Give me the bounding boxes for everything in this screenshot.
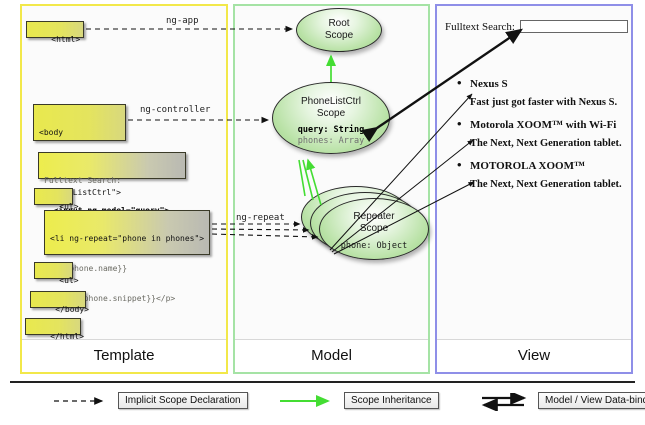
legend-label-implicit-scope-declaration: Implicit Scope Declaration bbox=[118, 392, 248, 409]
ul-open-tag-box: <ul> bbox=[34, 188, 73, 205]
legend-item-implicit-scope-declaration: Implicit Scope Declaration bbox=[52, 392, 248, 409]
phonelistctrl-scope-line2: Scope bbox=[273, 108, 389, 120]
green-arrow-icon bbox=[278, 393, 338, 409]
li-ng-repeat-snippet-box: <li ng-repeat="phone in phones"> {{phone… bbox=[44, 210, 210, 255]
phonelistctrl-scope-line1: PhoneListCtrl bbox=[273, 96, 389, 108]
body-close-tag-text: </body> bbox=[55, 305, 89, 314]
double-arrow-icon bbox=[480, 393, 532, 409]
ul-close-tag-text: <ul> bbox=[59, 276, 78, 285]
view-search-row: Fulltext Search: bbox=[445, 20, 628, 33]
legend-label-scope-inheritance: Scope Inheritance bbox=[344, 392, 439, 409]
repeater-scope-line2: Scope bbox=[320, 223, 428, 235]
view-search-input[interactable] bbox=[520, 20, 628, 33]
list-item[interactable]: Motorola XOOM™ with Wi-Fi The Next, Next… bbox=[453, 117, 631, 152]
body-open-tag-box: <body ng-controller= "PhoneListCtrl"> bbox=[33, 104, 126, 141]
legend: Implicit Scope Declaration Scope Inherit… bbox=[10, 381, 635, 425]
legend-item-scope-inheritance: Scope Inheritance bbox=[278, 392, 439, 409]
li-ng-repeat-line2: {{phone.name}} bbox=[50, 264, 204, 274]
phone-snippet: The Next, Next Generation tablet. bbox=[453, 136, 631, 152]
phonelistctrl-scope-ellipse: PhoneListCtrl Scope query: String phones… bbox=[272, 82, 390, 154]
phone-name: MOTOROLA XOOM™ bbox=[453, 158, 631, 174]
body-open-tag-line1: <body bbox=[39, 128, 120, 138]
angularjs-architecture-diagram: Template <html> <body ng-controller= "Ph… bbox=[0, 0, 645, 425]
root-scope-ellipse: Root Scope bbox=[296, 8, 382, 52]
html-close-tag-text: </html> bbox=[50, 332, 84, 341]
phone-name: Motorola XOOM™ with Wi-Fi bbox=[453, 117, 631, 133]
repeater-scope-ellipse-front: Repeater Scope phone: Object bbox=[319, 198, 429, 260]
repeater-scope-field-phone: phone: Object bbox=[320, 241, 428, 252]
view-search-label: Fulltext Search: bbox=[445, 21, 515, 33]
view-phone-list: Nexus S Fast just got faster with Nexus … bbox=[453, 76, 631, 199]
model-column-label: Model bbox=[235, 339, 428, 372]
phonelistctrl-scope-field-query: query: String bbox=[273, 125, 389, 136]
repeater-scope-line1: Repeater bbox=[320, 211, 428, 223]
html-close-tag-box: </html> bbox=[25, 318, 81, 335]
phonelistctrl-scope-field-phones: phones: Array bbox=[273, 136, 389, 147]
root-scope-line2: Scope bbox=[297, 30, 381, 42]
view-column-label: View bbox=[437, 339, 631, 372]
fulltext-search-snippet-box: Fulltext Search: <input ng-model="query"… bbox=[38, 152, 186, 179]
legend-label-model-view-data-binding: Model / View Data-binding bbox=[538, 392, 645, 409]
phone-snippet: The Next, Next Generation tablet. bbox=[453, 177, 631, 193]
phone-name: Nexus S bbox=[453, 76, 631, 92]
root-scope-line1: Root bbox=[297, 18, 381, 30]
body-close-tag-box: </body> bbox=[30, 291, 86, 308]
ng-controller-label: ng-controller bbox=[140, 105, 210, 115]
fulltext-search-snippet-label: Fulltext Search: bbox=[44, 176, 180, 186]
phone-snippet: Fast just got faster with Nexus S. bbox=[453, 95, 631, 111]
li-ng-repeat-line1: <li ng-repeat="phone in phones"> bbox=[50, 234, 204, 244]
legend-item-model-view-data-binding: Model / View Data-binding bbox=[480, 392, 645, 409]
list-item[interactable]: MOTOROLA XOOM™ The Next, Next Generation… bbox=[453, 158, 631, 193]
list-item[interactable]: Nexus S Fast just got faster with Nexus … bbox=[453, 76, 631, 111]
dashed-arrow-icon bbox=[52, 393, 112, 409]
html-open-tag-box: <html> bbox=[26, 21, 84, 38]
html-open-tag-text: <html> bbox=[51, 35, 80, 44]
ul-close-tag-box: <ul> bbox=[34, 262, 73, 279]
ng-app-label: ng-app bbox=[166, 16, 199, 26]
ng-repeat-label: ng-repeat bbox=[236, 213, 285, 223]
